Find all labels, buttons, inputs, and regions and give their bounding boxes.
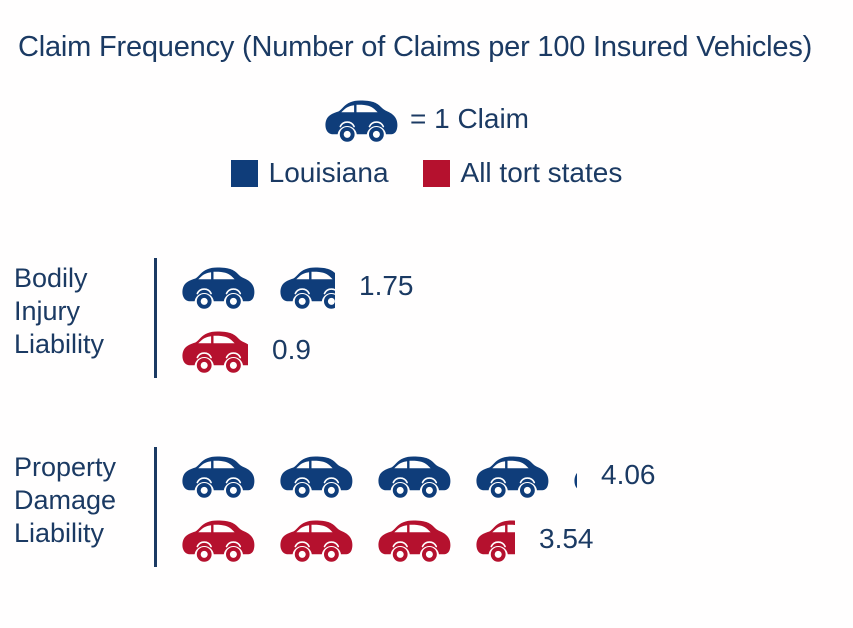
car-icon [377,515,451,563]
car-icon [181,515,255,563]
blue-square-swatch [231,160,258,187]
category-group-property-damage-liability: Property Damage Liability [14,447,844,567]
row-value-label: 3.54 [539,524,594,554]
category-divider [154,447,157,567]
car-icon [324,95,398,143]
car-icon [181,262,255,310]
claim-frequency-pictogram-chart: Claim Frequency (Number of Claims per 10… [0,0,853,628]
pictogram-row-louisiana: 1.75 [181,258,844,314]
icon-track [181,515,529,563]
car-icon-svg [324,95,398,143]
unit-legend: = 1 Claim [0,95,853,143]
car-icon-svg [279,451,353,499]
unit-legend-text: = 1 Claim [410,104,529,134]
car-icon [279,451,353,499]
chart-title: Claim Frequency (Number of Claims per 10… [18,30,848,64]
pictogram-row-all-tort-states: 3.54 [181,511,844,567]
car-icon-partial [475,515,515,563]
category-rows: 1.75 0.9 [181,258,844,378]
legend-entry-all-tort-states[interactable]: All tort states [423,158,623,188]
row-value-label: 4.06 [601,460,656,490]
category-divider [154,258,157,378]
car-icon [279,515,353,563]
category-group-bodily-injury-liability: Bodily Injury Liability 1.75 [14,258,844,378]
car-icon-svg [475,515,515,563]
icon-track [181,326,262,374]
car-icon-svg [181,451,255,499]
car-icon-partial [279,262,335,310]
car-icon-svg [377,515,451,563]
legend-entry-louisiana[interactable]: Louisiana [231,158,389,188]
car-icon [377,451,451,499]
car-icon [181,451,255,499]
car-icon-svg [181,262,255,310]
row-value-label: 1.75 [359,271,414,301]
car-icon-partial [181,326,248,374]
car-icon-svg [475,451,549,499]
car-icon [475,451,549,499]
car-icon-svg [377,451,451,499]
car-icon-partial [573,451,577,499]
car-icon-svg [181,515,255,563]
pictogram-row-all-tort-states: 0.9 [181,322,844,378]
icon-track [181,451,591,499]
legend-label-all-tort-states: All tort states [461,158,623,188]
car-icon-svg [279,262,335,310]
icon-track [181,262,349,310]
row-value-label: 0.9 [272,335,311,365]
red-square-swatch [423,160,450,187]
car-icon-svg [279,515,353,563]
car-icon-svg [573,451,577,499]
category-rows: 4.06 [181,447,844,567]
category-label: Property Damage Liability [14,447,154,550]
series-legend: Louisiana All tort states [0,158,853,188]
legend-label-louisiana: Louisiana [269,158,389,188]
car-icon-svg [181,326,248,374]
pictogram-row-louisiana: 4.06 [181,447,844,503]
category-label: Bodily Injury Liability [14,258,154,361]
